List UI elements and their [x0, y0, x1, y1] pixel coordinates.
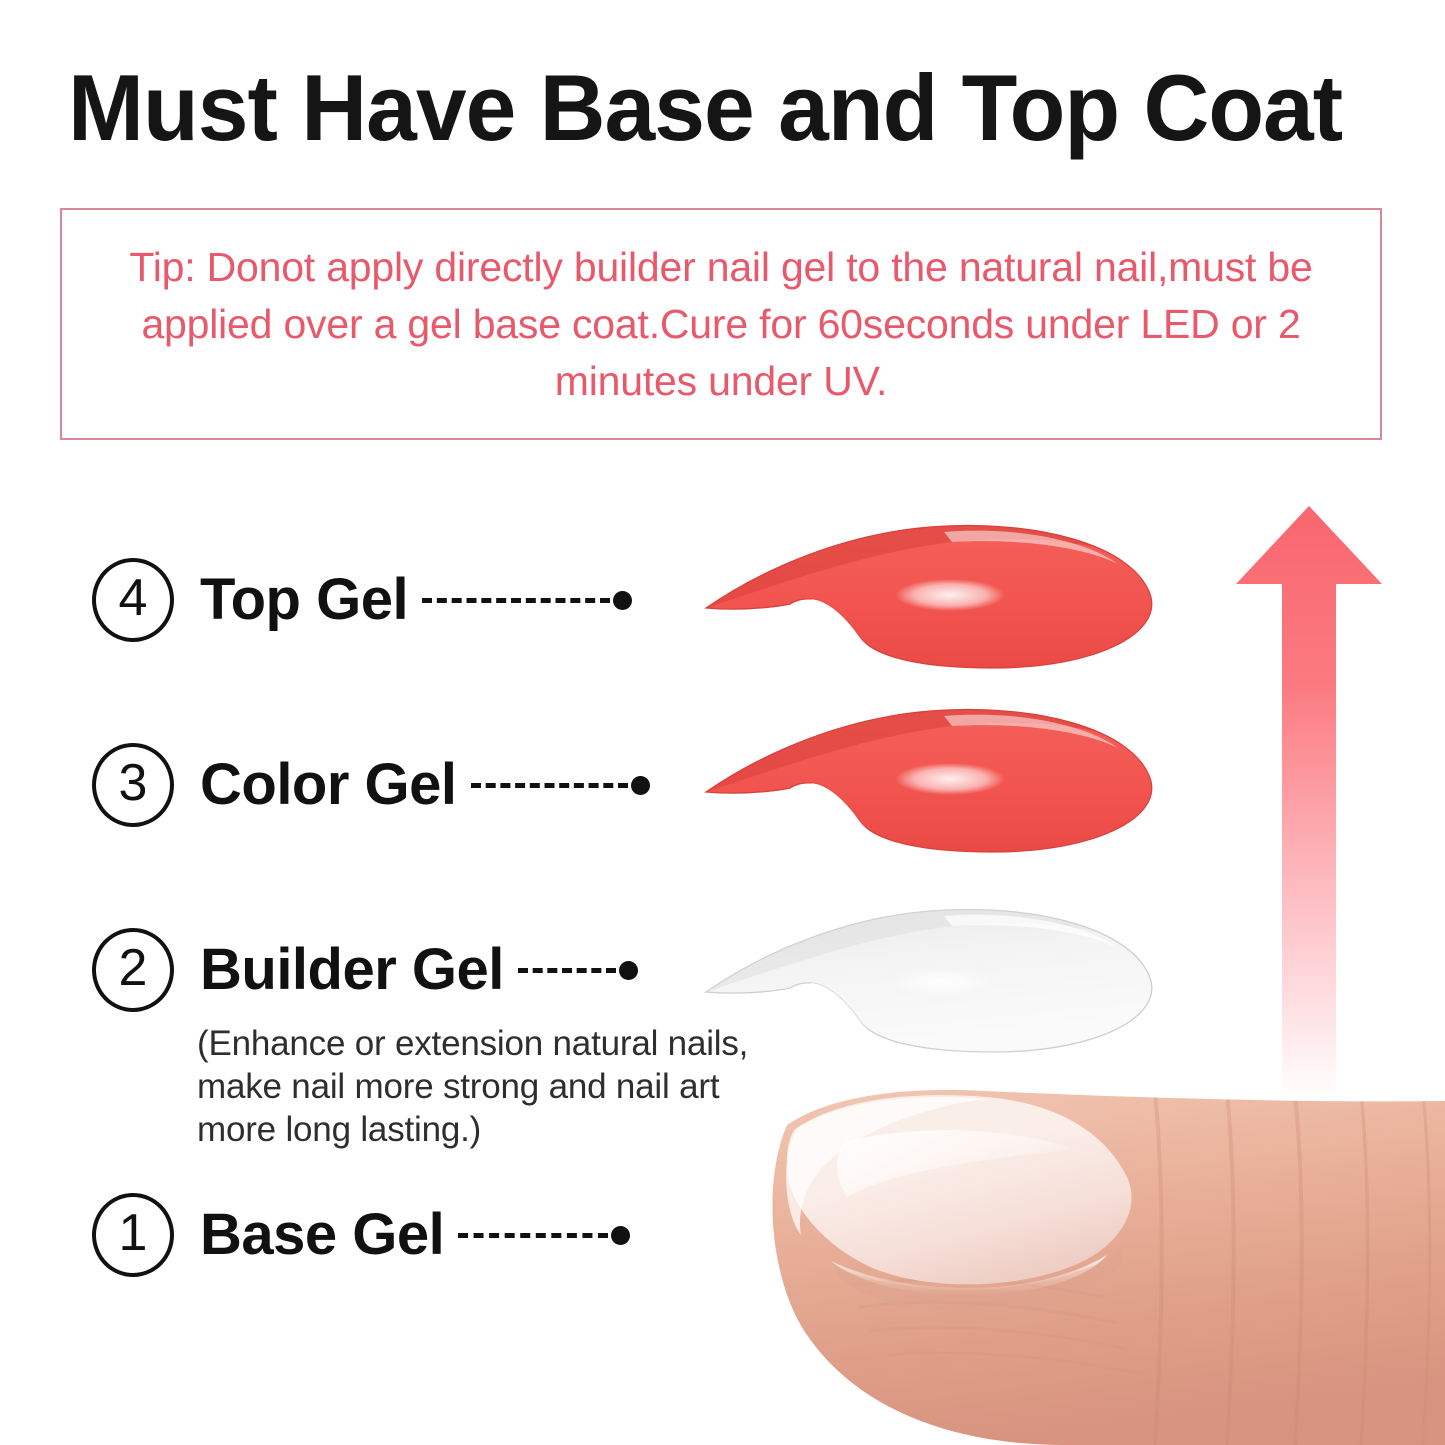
dashed-line	[422, 598, 610, 603]
tip-box: Tip: Donot apply directly builder nail g…	[60, 208, 1382, 440]
leader-line-base-gel	[458, 1226, 630, 1245]
step-number-label: 1	[119, 1207, 148, 1259]
dashed-line	[518, 968, 616, 973]
step-label-top-gel: Top Gel	[200, 570, 408, 630]
leader-dot-icon	[611, 1226, 630, 1245]
step-number-badge: 2	[92, 928, 174, 1012]
leader-line-color-gel	[471, 776, 650, 795]
leader-line-builder-gel	[518, 961, 638, 980]
step-number-label: 2	[119, 942, 148, 994]
step-number-label: 3	[119, 757, 148, 809]
step-row-color-gel: 3 Color Gel	[92, 743, 650, 827]
dashed-line	[458, 1233, 608, 1238]
leader-line-top-gel	[422, 591, 632, 610]
leader-dot-icon	[619, 961, 638, 980]
step-number-badge: 1	[92, 1193, 174, 1277]
step-label-builder-gel: Builder Gel	[200, 940, 504, 1000]
upward-arrow-icon	[1224, 500, 1394, 1100]
step-label-base-gel: Base Gel	[200, 1205, 444, 1265]
tip-text: Tip: Donot apply directly builder nail g…	[62, 239, 1380, 410]
leader-dot-icon	[613, 591, 632, 610]
step-number-label: 4	[119, 572, 148, 624]
fingertip-photo	[735, 1085, 1445, 1445]
top-gel-swatch-icon	[694, 516, 1164, 691]
infographic-page: Must Have Base and Top Coat Tip: Donot a…	[0, 0, 1445, 1445]
step-row-base-gel: 1 Base Gel	[92, 1193, 630, 1277]
step-number-badge: 3	[92, 743, 174, 827]
step-label-color-gel: Color Gel	[200, 755, 457, 815]
dashed-line	[471, 783, 628, 788]
step-row-top-gel: 4 Top Gel	[92, 558, 632, 642]
page-title: Must Have Base and Top Coat	[68, 58, 1348, 158]
builder-gel-swatch-icon	[694, 900, 1164, 1075]
color-gel-swatch-icon	[694, 700, 1164, 875]
step-row-builder-gel: 2 Builder Gel	[92, 928, 638, 1012]
step-number-badge: 4	[92, 558, 174, 642]
builder-gel-note: (Enhance or extension natural nails, mak…	[197, 1022, 757, 1151]
leader-dot-icon	[631, 776, 650, 795]
